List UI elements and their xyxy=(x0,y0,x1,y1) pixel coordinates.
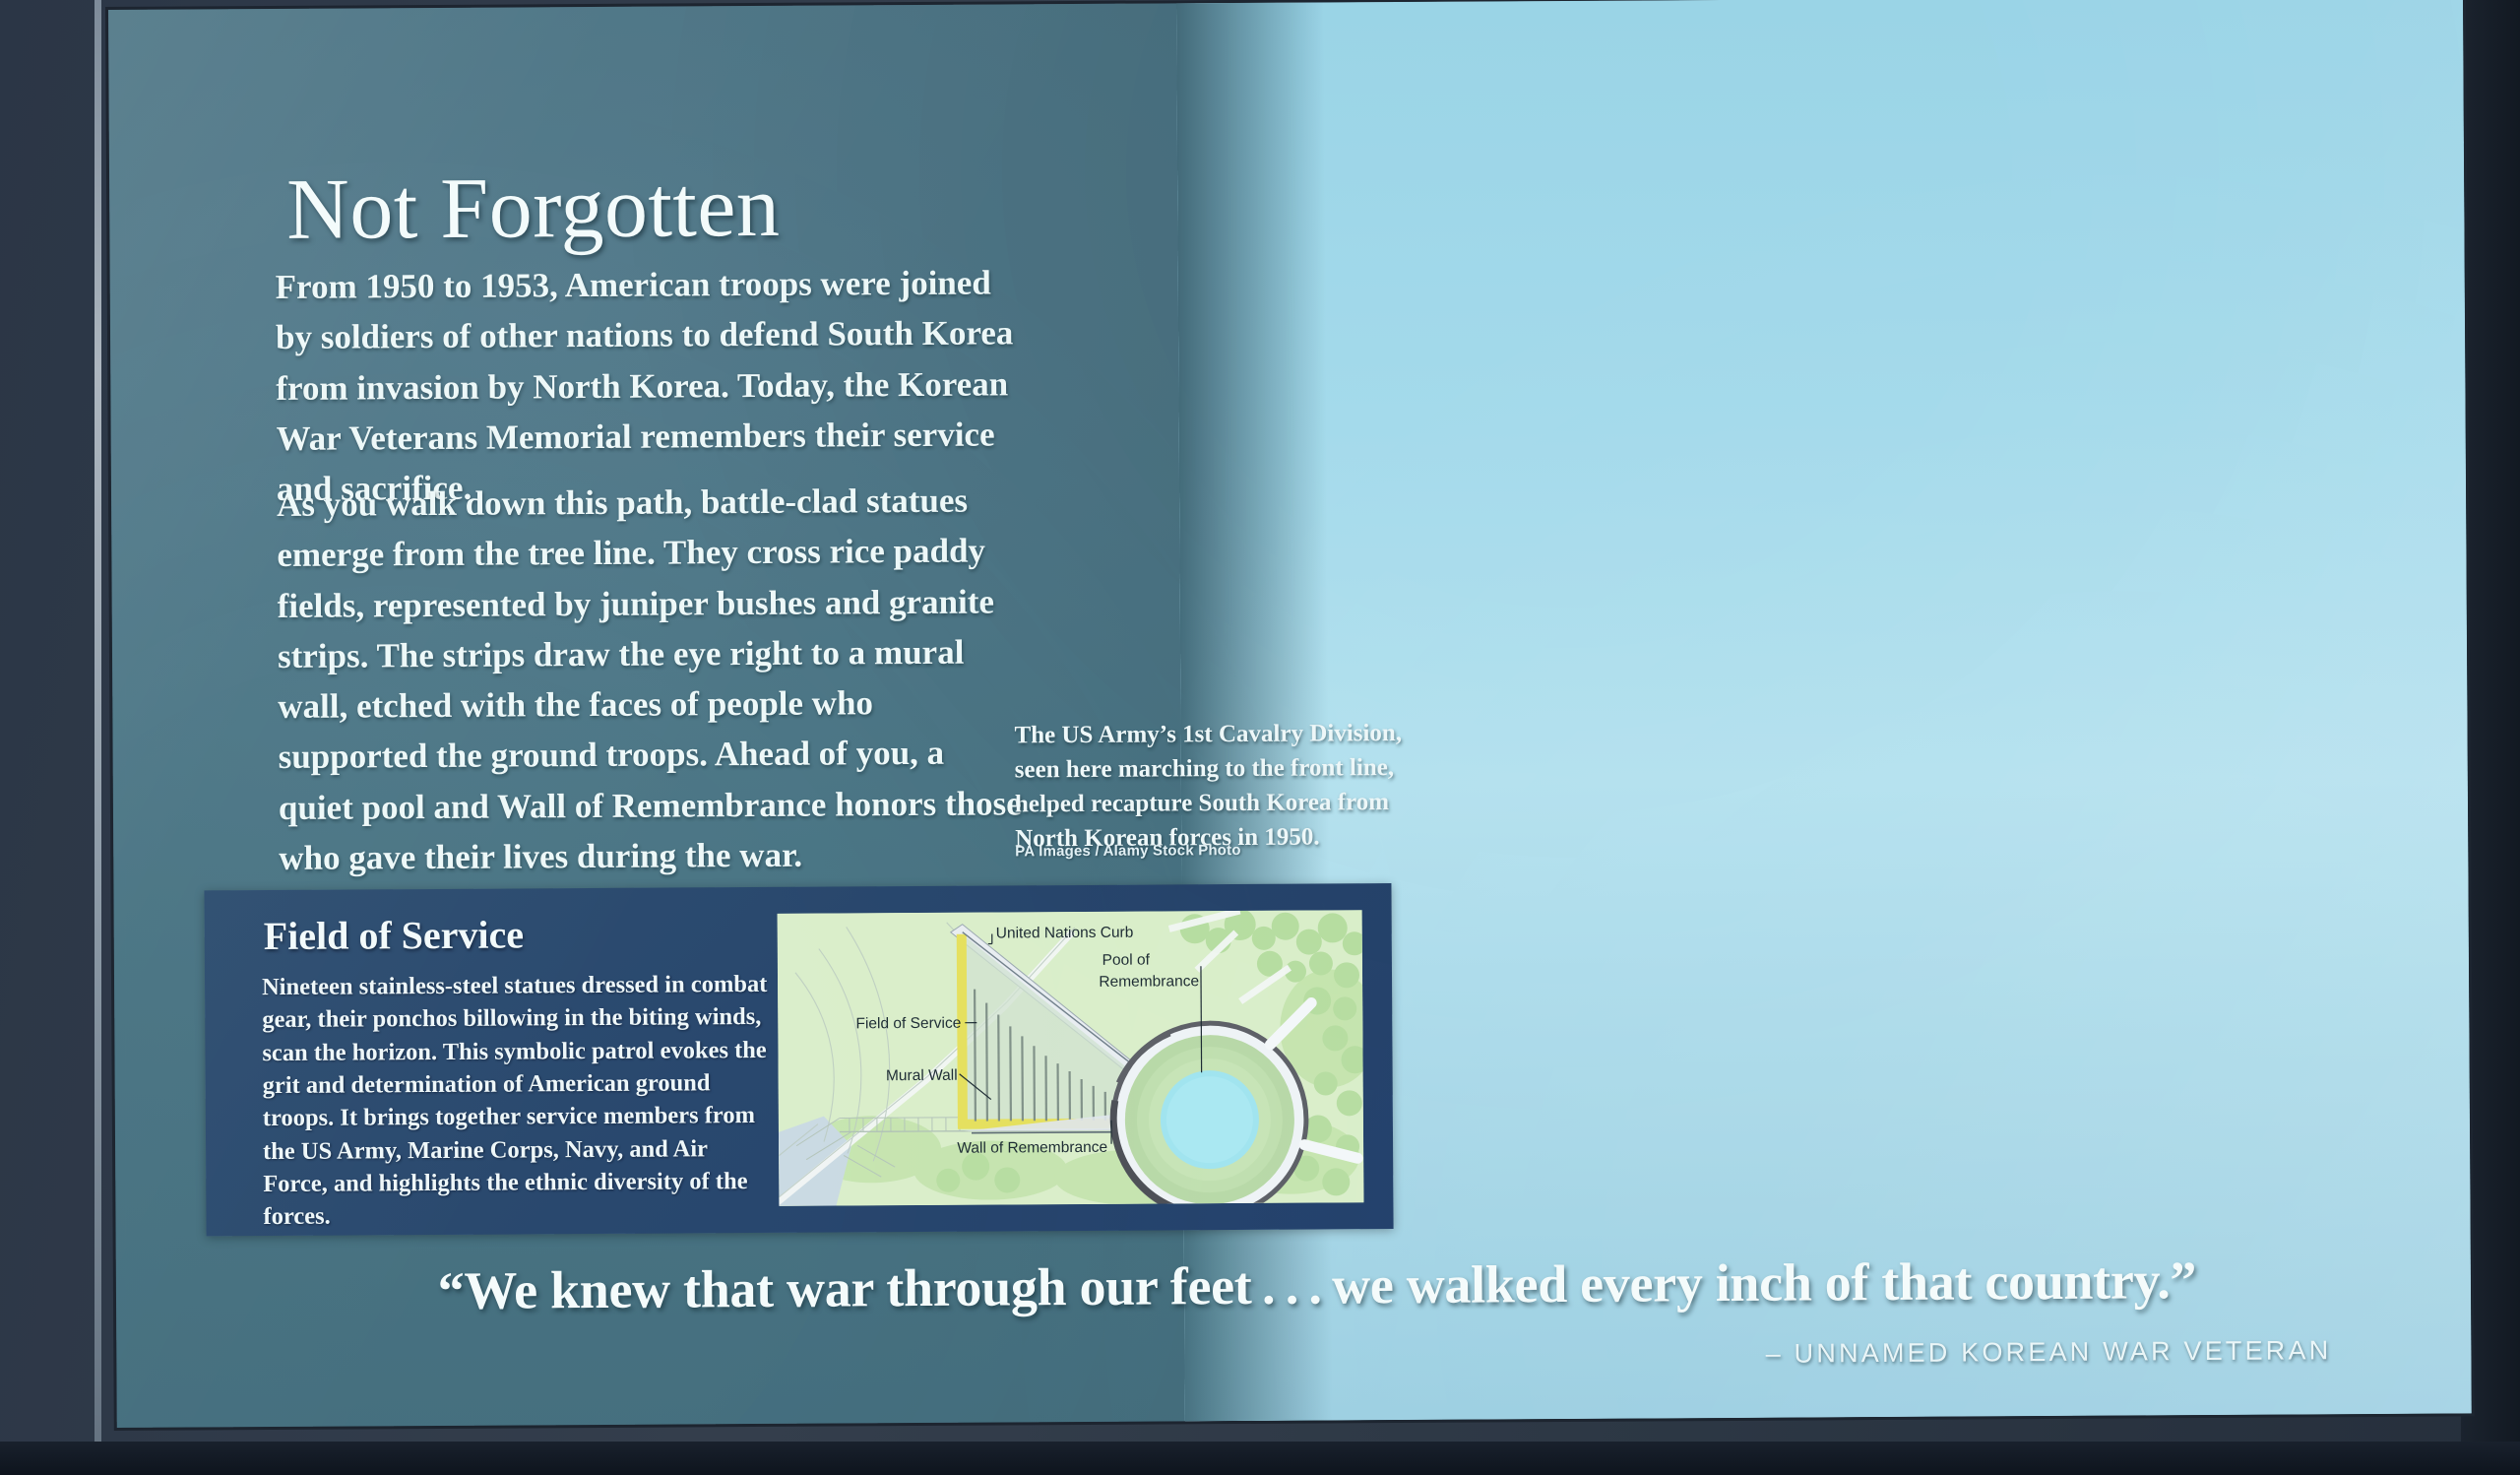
page-title: Not Forgotten xyxy=(286,158,781,260)
body-paragraph-2: As you walk down this path, battle-clad … xyxy=(277,475,1027,883)
photo-caption: The US Army’s 1st Cavalry Division, seen… xyxy=(1014,716,1409,856)
inset-heading: Field of Service xyxy=(264,911,525,959)
frame-bottom-edge xyxy=(0,1442,2520,1475)
frame-edge-highlight xyxy=(94,0,101,1475)
map-label-pool-line2: Remembrance xyxy=(1099,973,1199,991)
interpretive-sign-panel: Not Forgotten From 1950 to 1953, America… xyxy=(108,0,2472,1428)
map-label-united-nations-curb: United Nations Curb xyxy=(996,925,1134,942)
sign-frame: Not Forgotten From 1950 to 1953, America… xyxy=(0,0,2520,1475)
inset-body-text: Nineteen stainless-steel statues dressed… xyxy=(262,968,776,1234)
map-label-wall-of-remembrance: Wall of Remembrance xyxy=(957,1139,1107,1157)
map-label-pool-line1: Pool of xyxy=(1102,952,1151,969)
field-of-service-panel: Field of Service Nineteen stainless-stee… xyxy=(204,883,1393,1236)
map-label-field-of-service: Field of Service xyxy=(855,1015,961,1033)
memorial-site-map: United Nations Curb Pool of Remembrance … xyxy=(778,910,1364,1206)
map-label-mural-wall: Mural Wall xyxy=(886,1067,958,1084)
photo-credit: PA Images / Alamy Stock Photo xyxy=(1015,842,1241,860)
